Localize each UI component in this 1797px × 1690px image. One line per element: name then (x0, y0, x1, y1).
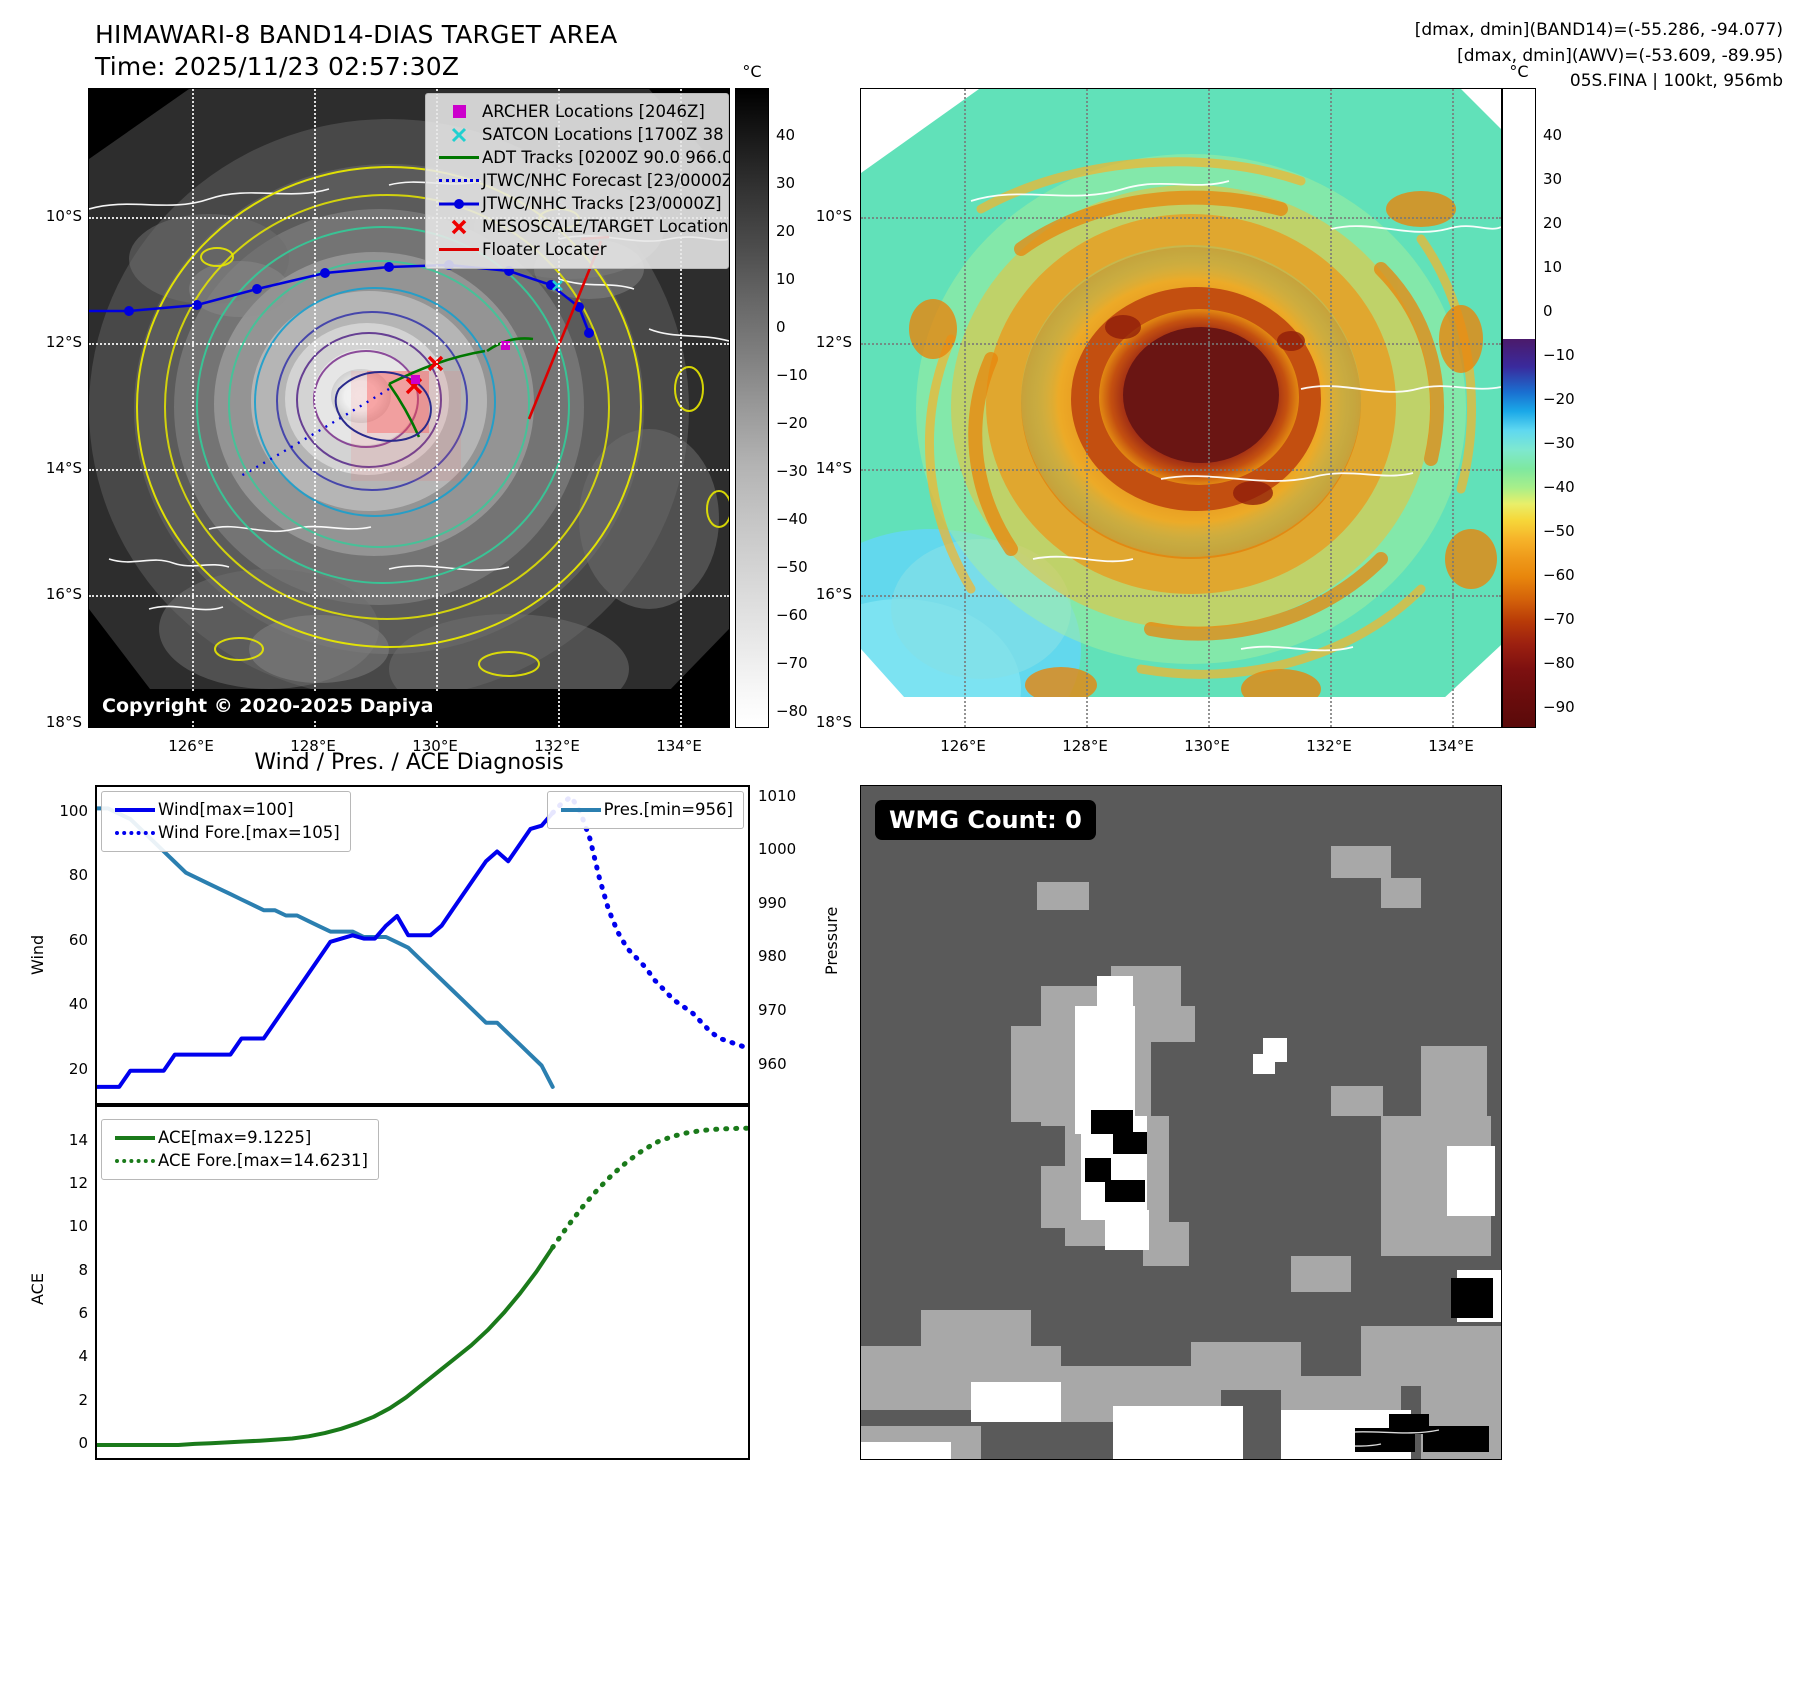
ace-chart-legend: ACE[max=9.1225] ACE Fore.[max=14.6231] (101, 1119, 379, 1180)
awv-gridline-lon-126e (964, 89, 966, 727)
mesoscale-x-icon (436, 218, 482, 236)
ir-cbar-tick-m20: −20 (776, 414, 808, 432)
legend-item-jtwc-forecast: JTWC/NHC Forecast [23/0000Z] (436, 169, 718, 192)
legend-item-archer: ARCHER Locations [2046Z] (436, 100, 718, 123)
ir-lat-tick-12s: 12°S (20, 333, 82, 351)
legend-item-ace-forecast: ACE Fore.[max=14.6231] (112, 1149, 368, 1172)
diagnosis-title: Wind / Pres. / ACE Diagnosis (254, 750, 563, 775)
awv-cbar-tick-m90: −90 (1543, 698, 1575, 716)
axis-tick: 2 (30, 1391, 88, 1409)
ir-gridline-lat-14s (89, 469, 729, 471)
legend-label-adt: ADT Tracks [0200Z 90.0 966.0] (482, 148, 730, 167)
adt-line-icon (436, 156, 482, 159)
ir-cbar-tick-40: 40 (776, 126, 795, 144)
awv-lon-tick-132e: 132°E (1306, 737, 1352, 755)
pressure-axis-label: Pressure (822, 907, 841, 975)
legend-label-satcon: SATCON Locations [1700Z 38 1000] (482, 125, 730, 144)
awv-gridline-lon-128e (1086, 89, 1088, 727)
ir-lon-tick-126e: 126°E (168, 737, 214, 755)
ir-cbar-tick-10: 10 (776, 270, 795, 288)
axis-tick: 80 (30, 866, 88, 884)
axis-tick: 1010 (758, 787, 816, 805)
legend-item-jtwc-tracks: JTWC/NHC Tracks [23/0000Z] (436, 192, 718, 215)
legend-label-archer: ARCHER Locations [2046Z] (482, 102, 705, 121)
awv-lat-tick-16s: 16°S (790, 585, 852, 603)
legend-label-jtwc-forecast: JTWC/NHC Forecast [23/0000Z] (482, 171, 730, 190)
satcon-x-icon (436, 126, 482, 144)
legend-label-mesoscale: MESOSCALE/TARGET Location (482, 217, 728, 236)
awv-cbar-tick-m10: −10 (1543, 346, 1575, 364)
awv-gridline-lat-10s (861, 217, 1501, 219)
legend-label-pressure: Pres.[min=956] (604, 800, 733, 819)
awv-gridline-lat-12s (861, 343, 1501, 345)
wmg-panel[interactable]: WMG Count: 0 (860, 785, 1502, 1460)
wmg-count-badge: WMG Count: 0 (875, 800, 1096, 840)
ir-lat-tick-16s: 16°S (20, 585, 82, 603)
legend-label-floater: Floater Locater (482, 240, 607, 259)
awv-lon-tick-128e: 128°E (1062, 737, 1108, 755)
awv-cbar-tick-10: 10 (1543, 258, 1562, 276)
awv-colorbar (1502, 88, 1536, 728)
pressure-chart-legend: Pres.[min=956] (547, 791, 744, 829)
awv-lat-tick-14s: 14°S (790, 459, 852, 477)
ir-cbar-tick-0: 0 (776, 318, 786, 336)
ir-cbar-tick-30: 30 (776, 174, 795, 192)
legend-item-satcon: SATCON Locations [1700Z 38 1000] (436, 123, 718, 146)
wind-forecast-dotted-icon (112, 831, 158, 835)
ir-gridline-lon-128e (314, 89, 316, 727)
axis-tick: 980 (758, 947, 816, 965)
archer-square-icon (436, 105, 482, 118)
ace-line-icon (112, 1136, 158, 1140)
awv-lon-tick-130e: 130°E (1184, 737, 1230, 755)
ir-cbar-tick-m50: −50 (776, 558, 808, 576)
ir-lat-tick-10s: 10°S (20, 207, 82, 225)
awv-cbar-tick-30: 30 (1543, 170, 1562, 188)
awv-gridline-lon-130e (1208, 89, 1210, 727)
legend-label-ace-forecast: ACE Fore.[max=14.6231] (158, 1151, 368, 1170)
awv-gridline-lon-134e (1452, 89, 1454, 727)
awv-gridline-lat-16s (861, 595, 1501, 597)
awv-satellite-map[interactable] (860, 88, 1502, 728)
axis-tick: 970 (758, 1001, 816, 1019)
axis-tick: 40 (30, 995, 88, 1013)
ir-gridline-lat-16s (89, 595, 729, 597)
legend-label-wind: Wind[max=100] (158, 800, 294, 819)
awv-colorbar-unit: °C (1509, 62, 1528, 81)
awv-gridline-lon-132e (1330, 89, 1332, 727)
awv-lon-tick-126e: 126°E (940, 737, 986, 755)
pressure-line-icon (558, 808, 604, 812)
awv-cbar-tick-0: 0 (1543, 302, 1553, 320)
ir-lat-tick-18s: 18°S (20, 713, 82, 731)
awv-cbar-tick-m40: −40 (1543, 478, 1575, 496)
legend-item-wind-forecast: Wind Fore.[max=105] (112, 821, 340, 844)
axis-tick: 990 (758, 894, 816, 912)
legend-item-pressure: Pres.[min=956] (558, 798, 733, 821)
axis-tick: 10 (30, 1217, 88, 1235)
axis-tick: 100 (30, 802, 88, 820)
awv-cbar-tick-20: 20 (1543, 214, 1562, 232)
awv-cbar-tick-m80: −80 (1543, 654, 1575, 672)
ir-gridline-lon-126e (192, 89, 194, 727)
legend-label-ace: ACE[max=9.1225] (158, 1128, 311, 1147)
legend-item-adt: ADT Tracks [0200Z 90.0 966.0] (436, 146, 718, 169)
axis-tick: 60 (30, 931, 88, 949)
ace-chart[interactable]: ACE[max=9.1225] ACE Fore.[max=14.6231] (95, 1105, 750, 1460)
wmg-map-image (861, 786, 1501, 1459)
awv-cbar-tick-m50: −50 (1543, 522, 1575, 540)
ir-gridline-lat-12s (89, 343, 729, 345)
awv-lon-tick-134e: 134°E (1428, 737, 1474, 755)
page-timestamp: Time: 2025/11/23 02:57:30Z (95, 52, 459, 81)
axis-tick: 12 (30, 1174, 88, 1192)
awv-lat-tick-12s: 12°S (790, 333, 852, 351)
ir-lat-tick-14s: 14°S (20, 459, 82, 477)
awv-lat-tick-10s: 10°S (790, 207, 852, 225)
axis-tick: 8 (30, 1261, 88, 1279)
legend-label-wind-forecast: Wind Fore.[max=105] (158, 823, 340, 842)
awv-cbar-tick-m70: −70 (1543, 610, 1575, 628)
legend-item-wind: Wind[max=100] (112, 798, 340, 821)
ir-cbar-tick-m10: −10 (776, 366, 808, 384)
awv-cbar-tick-m30: −30 (1543, 434, 1575, 452)
legend-label-jtwc-tracks: JTWC/NHC Tracks [23/0000Z] (482, 194, 722, 213)
axis-tick: 14 (30, 1131, 88, 1149)
dmax-awv-text: [dmax, dmin](AWV)=(-53.609, -89.95) (1083, 44, 1783, 70)
ir-satellite-map[interactable]: ARCHER Locations [2046Z] SATCON Location… (88, 88, 730, 728)
legend-item-ace: ACE[max=9.1225] (112, 1126, 368, 1149)
ir-colorbar (735, 88, 769, 728)
ir-cbar-tick-m70: −70 (776, 654, 808, 672)
axis-tick: 20 (30, 1060, 88, 1078)
ir-colorbar-unit: °C (742, 62, 761, 81)
ir-cbar-tick-m40: −40 (776, 510, 808, 528)
wind-pressure-chart[interactable]: Wind[max=100] Wind Fore.[max=105] Pres.[… (95, 785, 750, 1105)
copyright-text: Copyright © 2020-2025 Dapiya (93, 691, 442, 721)
legend-item-floater: Floater Locater (436, 238, 718, 261)
awv-cbar-tick-m20: −20 (1543, 390, 1575, 408)
forecast-dotted-line-icon (436, 179, 482, 182)
legend-item-mesoscale: MESOSCALE/TARGET Location (436, 215, 718, 238)
dmax-band14-text: [dmax, dmin](BAND14)=(-55.286, -94.077) (1083, 18, 1783, 44)
wind-line-icon (112, 808, 158, 812)
awv-cbar-tick-m60: −60 (1543, 566, 1575, 584)
axis-tick: 1000 (758, 840, 816, 858)
page-title: HIMAWARI-8 BAND14-DIAS TARGET AREA (95, 20, 618, 49)
header-info: [dmax, dmin](BAND14)=(-55.286, -94.077) … (1083, 18, 1783, 95)
ace-forecast-dotted-icon (112, 1159, 158, 1163)
wind-chart-legend: Wind[max=100] Wind Fore.[max=105] (101, 791, 351, 852)
floater-line-icon (436, 248, 482, 251)
awv-lat-tick-18s: 18°S (790, 713, 852, 731)
ir-lon-tick-134e: 134°E (656, 737, 702, 755)
axis-tick: 6 (30, 1304, 88, 1322)
axis-tick: 0 (30, 1434, 88, 1452)
track-line-dot-icon (436, 197, 482, 211)
awv-map-image (861, 89, 1501, 727)
awv-cbar-tick-40: 40 (1543, 126, 1562, 144)
axis-tick: 960 (758, 1055, 816, 1073)
axis-tick: 4 (30, 1347, 88, 1365)
ir-map-legend: ARCHER Locations [2046Z] SATCON Location… (425, 93, 729, 269)
ir-cbar-tick-m60: −60 (776, 606, 808, 624)
awv-gridline-lat-14s (861, 469, 1501, 471)
